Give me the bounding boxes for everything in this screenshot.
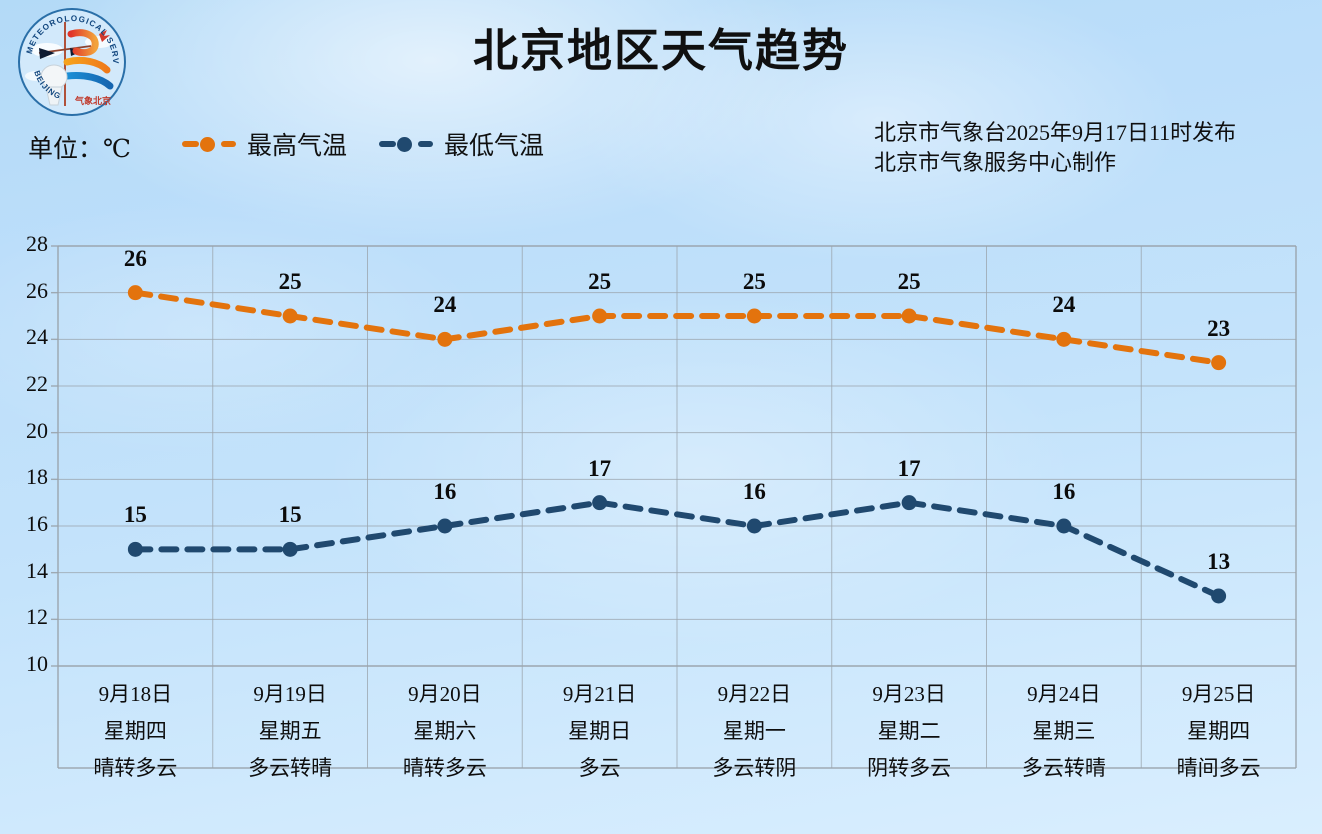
- data-value-label: 16: [724, 479, 784, 505]
- data-value-label: 17: [570, 456, 630, 482]
- x-axis-day-block: 9月25日星期四晴间多云: [1141, 676, 1296, 787]
- y-axis-tick-label: 12: [4, 604, 48, 630]
- x-axis-condition-label: 多云转晴: [213, 750, 368, 787]
- weather-trend-chart-page: METEOROLOGICAL SERVICE BEIJING 气象北京 北京地区…: [0, 0, 1322, 834]
- data-value-label: 25: [570, 269, 630, 295]
- x-axis-day-block: 9月22日星期一多云转阴: [677, 676, 832, 787]
- x-axis-date-label: 9月24日: [987, 676, 1142, 713]
- y-axis-tick-label: 22: [4, 371, 48, 397]
- x-axis-condition-label: 多云转晴: [987, 750, 1142, 787]
- x-axis-condition-label: 多云转阴: [677, 750, 832, 787]
- y-axis-tick-label: 26: [4, 278, 48, 304]
- x-axis-date-label: 9月23日: [832, 676, 987, 713]
- x-axis-day-block: 9月20日星期六晴转多云: [368, 676, 523, 787]
- data-value-label: 16: [1034, 479, 1094, 505]
- data-value-label: 13: [1189, 549, 1249, 575]
- x-axis-weekday-label: 星期五: [213, 713, 368, 750]
- data-value-label: 25: [879, 269, 939, 295]
- x-axis-condition-label: 阴转多云: [832, 750, 987, 787]
- x-axis-condition-label: 晴转多云: [58, 750, 213, 787]
- x-axis-day-block: 9月23日星期二阴转多云: [832, 676, 987, 787]
- x-axis-weekday-label: 星期四: [1141, 713, 1296, 750]
- x-axis-weekday-label: 星期六: [368, 713, 523, 750]
- y-axis-tick-label: 14: [4, 558, 48, 584]
- x-axis-weekday-label: 星期二: [832, 713, 987, 750]
- data-value-label: 25: [260, 269, 320, 295]
- x-axis-day-block: 9月21日星期日多云: [522, 676, 677, 787]
- x-axis-date-label: 9月20日: [368, 676, 523, 713]
- data-value-label: 15: [260, 502, 320, 528]
- y-axis-tick-label: 16: [4, 511, 48, 537]
- chart-plot-area: 10121416182022242628 2625242525252423151…: [0, 0, 1322, 834]
- x-axis-day-block: 9月24日星期三多云转晴: [987, 676, 1142, 787]
- y-axis-tick-label: 28: [4, 231, 48, 257]
- data-value-label: 15: [105, 502, 165, 528]
- y-axis-tick-label: 18: [4, 464, 48, 490]
- data-value-label: 17: [879, 456, 939, 482]
- x-axis-weekday-label: 星期四: [58, 713, 213, 750]
- data-value-label: 23: [1189, 316, 1249, 342]
- x-axis-date-label: 9月21日: [522, 676, 677, 713]
- x-axis-day-block: 9月19日星期五多云转晴: [213, 676, 368, 787]
- y-axis-tick-label: 24: [4, 324, 48, 350]
- y-axis-tick-label: 10: [4, 651, 48, 677]
- x-axis-condition-label: 多云: [522, 750, 677, 787]
- data-value-label: 24: [415, 292, 475, 318]
- y-axis-tick-label: 20: [4, 418, 48, 444]
- x-axis-weekday-label: 星期日: [522, 713, 677, 750]
- x-axis-condition-label: 晴间多云: [1141, 750, 1296, 787]
- data-value-label: 24: [1034, 292, 1094, 318]
- x-axis-date-label: 9月25日: [1141, 676, 1296, 713]
- data-value-label: 25: [724, 269, 784, 295]
- x-axis-day-block: 9月18日星期四晴转多云: [58, 676, 213, 787]
- x-axis-weekday-label: 星期一: [677, 713, 832, 750]
- data-value-label: 16: [415, 479, 475, 505]
- x-axis-date-label: 9月18日: [58, 676, 213, 713]
- x-axis-date-label: 9月19日: [213, 676, 368, 713]
- data-value-label: 26: [105, 246, 165, 272]
- x-axis-date-label: 9月22日: [677, 676, 832, 713]
- x-axis-weekday-label: 星期三: [987, 713, 1142, 750]
- x-axis-condition-label: 晴转多云: [368, 750, 523, 787]
